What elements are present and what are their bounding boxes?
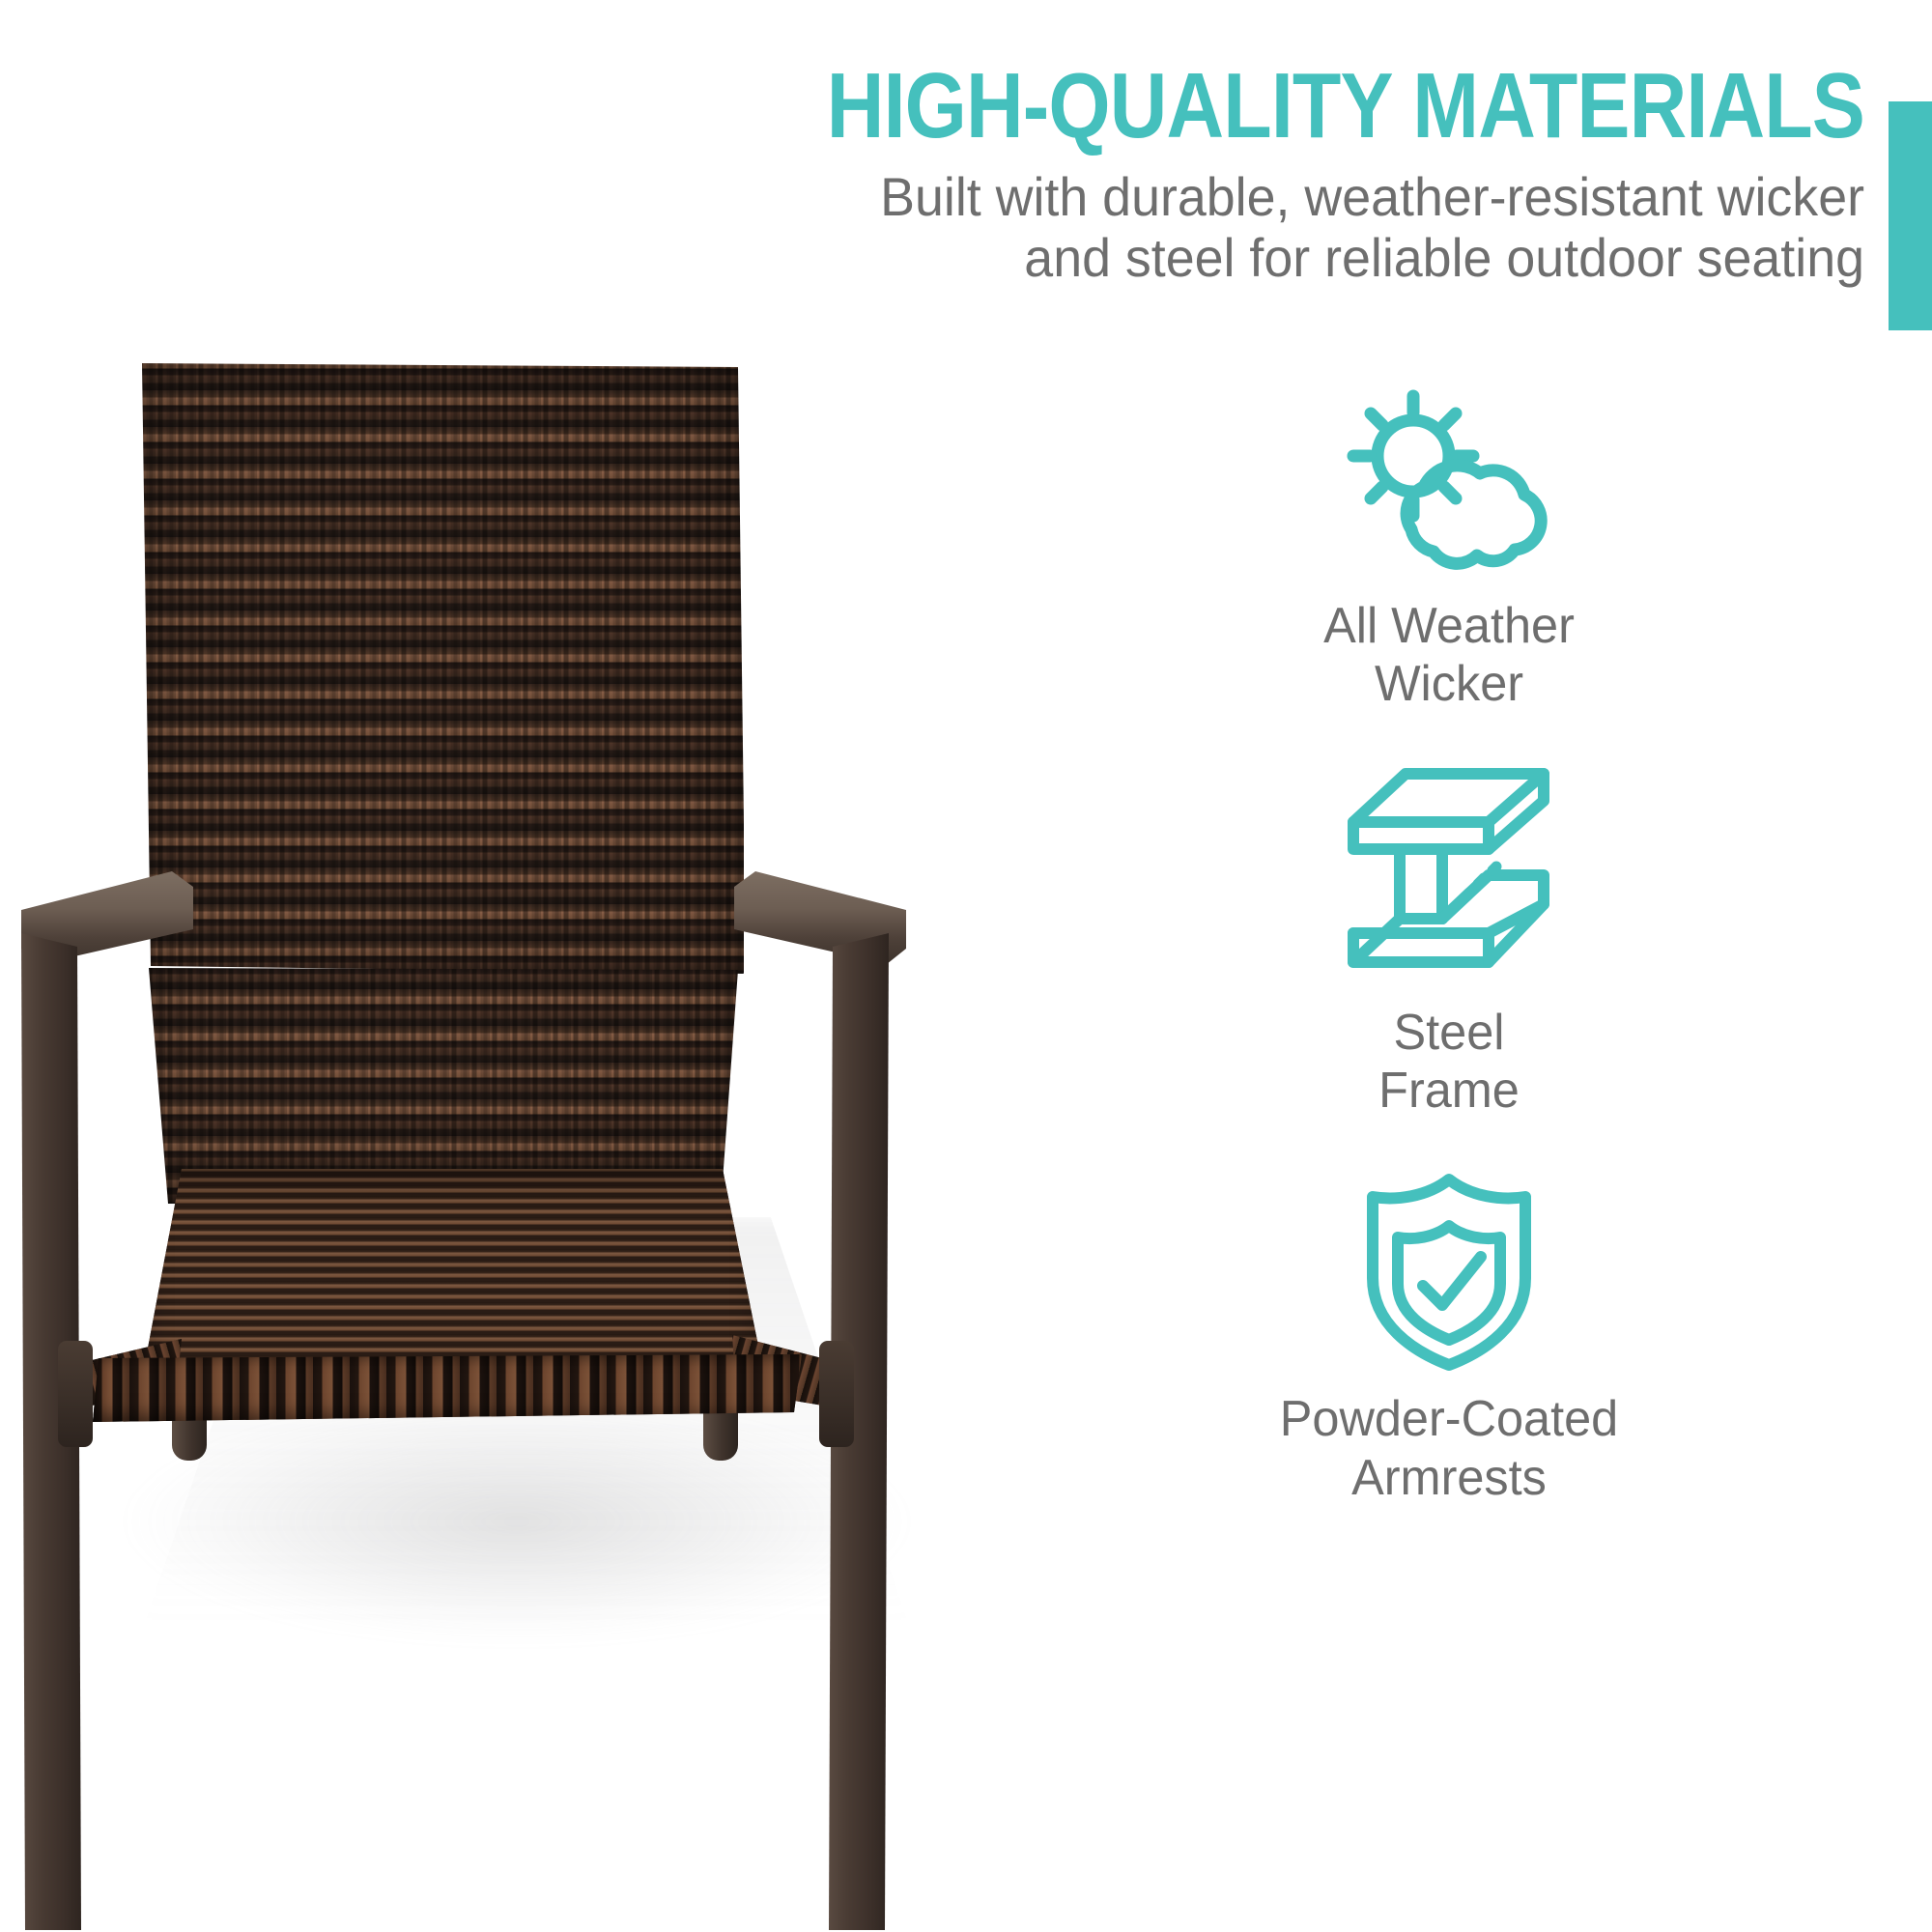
chair-backrest bbox=[135, 359, 744, 978]
feature-item-powder-coated-armrests: Powder-Coated Armrests bbox=[1043, 1170, 1855, 1507]
sun-cloud-icon bbox=[1043, 386, 1855, 580]
page-title: HIGH-QUALITY MATERIALS bbox=[535, 60, 1864, 153]
frame-bracket-left bbox=[58, 1341, 93, 1447]
subtitle-line-1: Built with durable, weather-resistant wi… bbox=[381, 166, 1864, 227]
feature-label-all-weather-wicker: All Weather Wicker bbox=[1056, 597, 1843, 714]
chair-seat bbox=[143, 1169, 761, 1377]
feature-label-powder-coated-armrests: Powder-Coated Armrests bbox=[1056, 1390, 1843, 1507]
header: HIGH-QUALITY MATERIALS Built with durabl… bbox=[0, 0, 1932, 333]
seat-front-rail bbox=[93, 1354, 808, 1424]
frame-bracket-right bbox=[819, 1341, 854, 1447]
floor-shadow bbox=[116, 1391, 918, 1681]
steel-i-beam-icon bbox=[1043, 764, 1855, 986]
shield-check-icon bbox=[1043, 1170, 1855, 1373]
accent-bar bbox=[1889, 101, 1932, 330]
page-subtitle: Built with durable, weather-resistant wi… bbox=[381, 166, 1864, 289]
product-photo bbox=[0, 319, 1024, 1932]
feature-item-steel-frame: Steel Frame bbox=[1043, 764, 1855, 1121]
feature-label-steel-frame: Steel Frame bbox=[1056, 1004, 1843, 1121]
feature-item-all-weather-wicker: All Weather Wicker bbox=[1043, 386, 1855, 714]
feature-list: All Weather Wicker bbox=[1043, 386, 1855, 1507]
subtitle-line-2: and steel for reliable outdoor seating bbox=[381, 227, 1864, 288]
